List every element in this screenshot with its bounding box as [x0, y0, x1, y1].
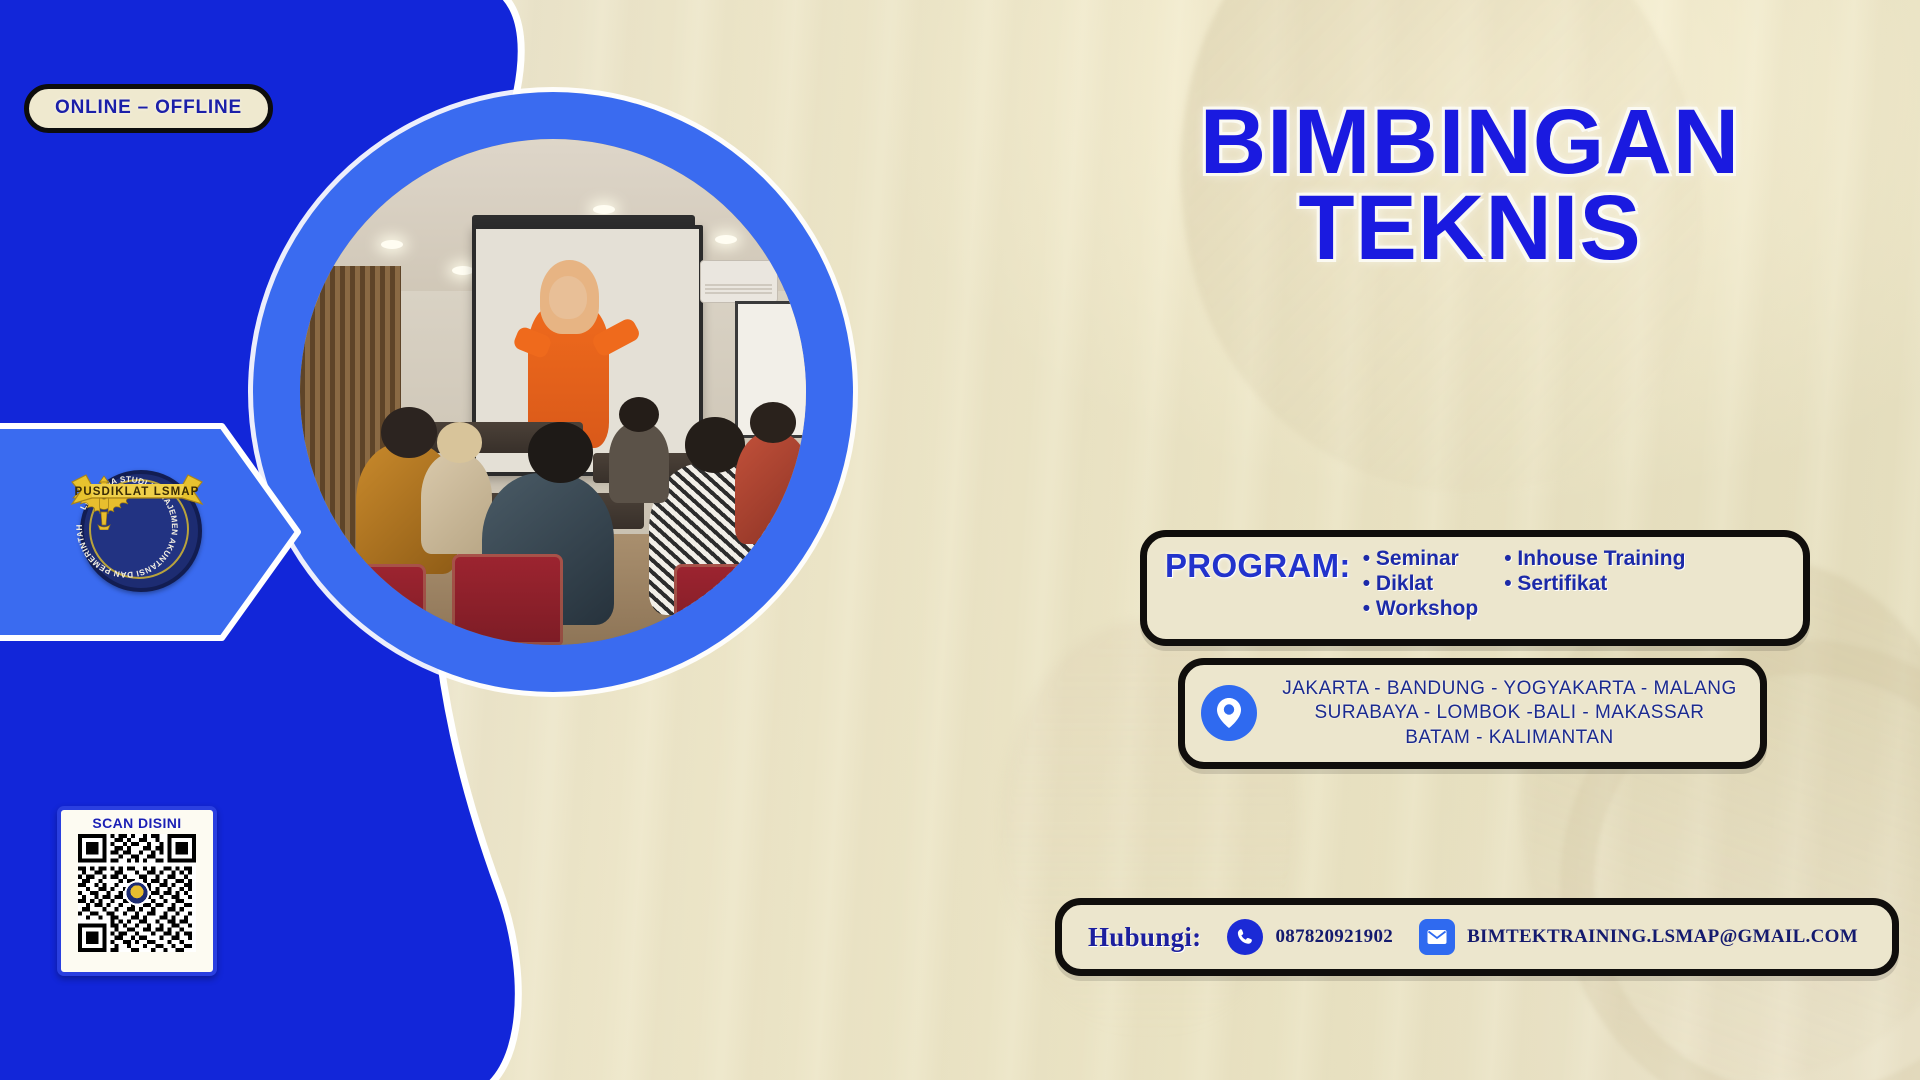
- email-address: BIMTEKTRAINING.LSMAP@GMAIL.COM: [1467, 926, 1858, 948]
- program-item: Seminar: [1363, 547, 1478, 571]
- map-pin-icon: [1201, 685, 1257, 741]
- online-offline-badge: ONLINE – OFFLINE: [24, 84, 273, 133]
- logo-badge: LEMBAGA STUDI MANAJEMEN AKUNTANSI DAN PE…: [0, 412, 310, 652]
- seminar-photo: [300, 139, 806, 645]
- program-item: Sertifikat: [1504, 572, 1685, 596]
- locations-card: JAKARTA - BANDUNG - YOGYAKARTA - MALANG …: [1178, 658, 1767, 769]
- program-column-1: Seminar Diklat Workshop: [1363, 547, 1478, 621]
- emblem-ribbon: PUSDIKLAT LSMAP: [70, 470, 204, 510]
- contact-card: Hubungi: 087820921902 BIMTEKTRAINING.LSM…: [1055, 898, 1899, 976]
- program-label: PROGRAM:: [1165, 547, 1351, 584]
- contact-label: Hubungi:: [1088, 922, 1201, 953]
- qr-code-icon: [78, 834, 196, 952]
- title-line-2: TEKNIS: [1060, 186, 1880, 272]
- location-line: SURABAYA - LOMBOK -BALI - MAKASSAR: [1273, 701, 1746, 725]
- program-item: Inhouse Training: [1504, 547, 1685, 571]
- background-watermark-shape: [1105, 0, 1776, 560]
- qr-code-box[interactable]: SCAN DISINI: [57, 806, 217, 976]
- location-line: BATAM - KALIMANTAN: [1273, 726, 1746, 750]
- program-item: Workshop: [1363, 597, 1478, 621]
- emblem-ribbon-label: PUSDIKLAT LSMAP: [75, 486, 200, 498]
- locations-list: JAKARTA - BANDUNG - YOGYAKARTA - MALANG …: [1273, 677, 1746, 750]
- qr-title: SCAN DISINI: [92, 815, 181, 831]
- phone-icon: [1227, 919, 1263, 955]
- page-title: BIMBINGAN TEKNIS: [1060, 100, 1880, 271]
- program-card: PROGRAM: Seminar Diklat Workshop Inhouse…: [1140, 530, 1810, 646]
- program-item: Diklat: [1363, 572, 1478, 596]
- program-column-2: Inhouse Training Sertifikat: [1504, 547, 1685, 621]
- location-line: JAKARTA - BANDUNG - YOGYAKARTA - MALANG: [1273, 677, 1746, 701]
- envelope-icon: [1419, 919, 1455, 955]
- email-contact[interactable]: BIMTEKTRAINING.LSMAP@GMAIL.COM: [1419, 919, 1858, 955]
- lsmap-emblem: LEMBAGA STUDI MANAJEMEN AKUNTANSI DAN PE…: [70, 470, 204, 596]
- phone-number: 087820921902: [1275, 926, 1393, 948]
- phone-contact[interactable]: 087820921902: [1227, 919, 1393, 955]
- poster-canvas: ONLINE – OFFLINE LEMBAGA STUDI MANAJEMEN…: [0, 0, 1920, 1080]
